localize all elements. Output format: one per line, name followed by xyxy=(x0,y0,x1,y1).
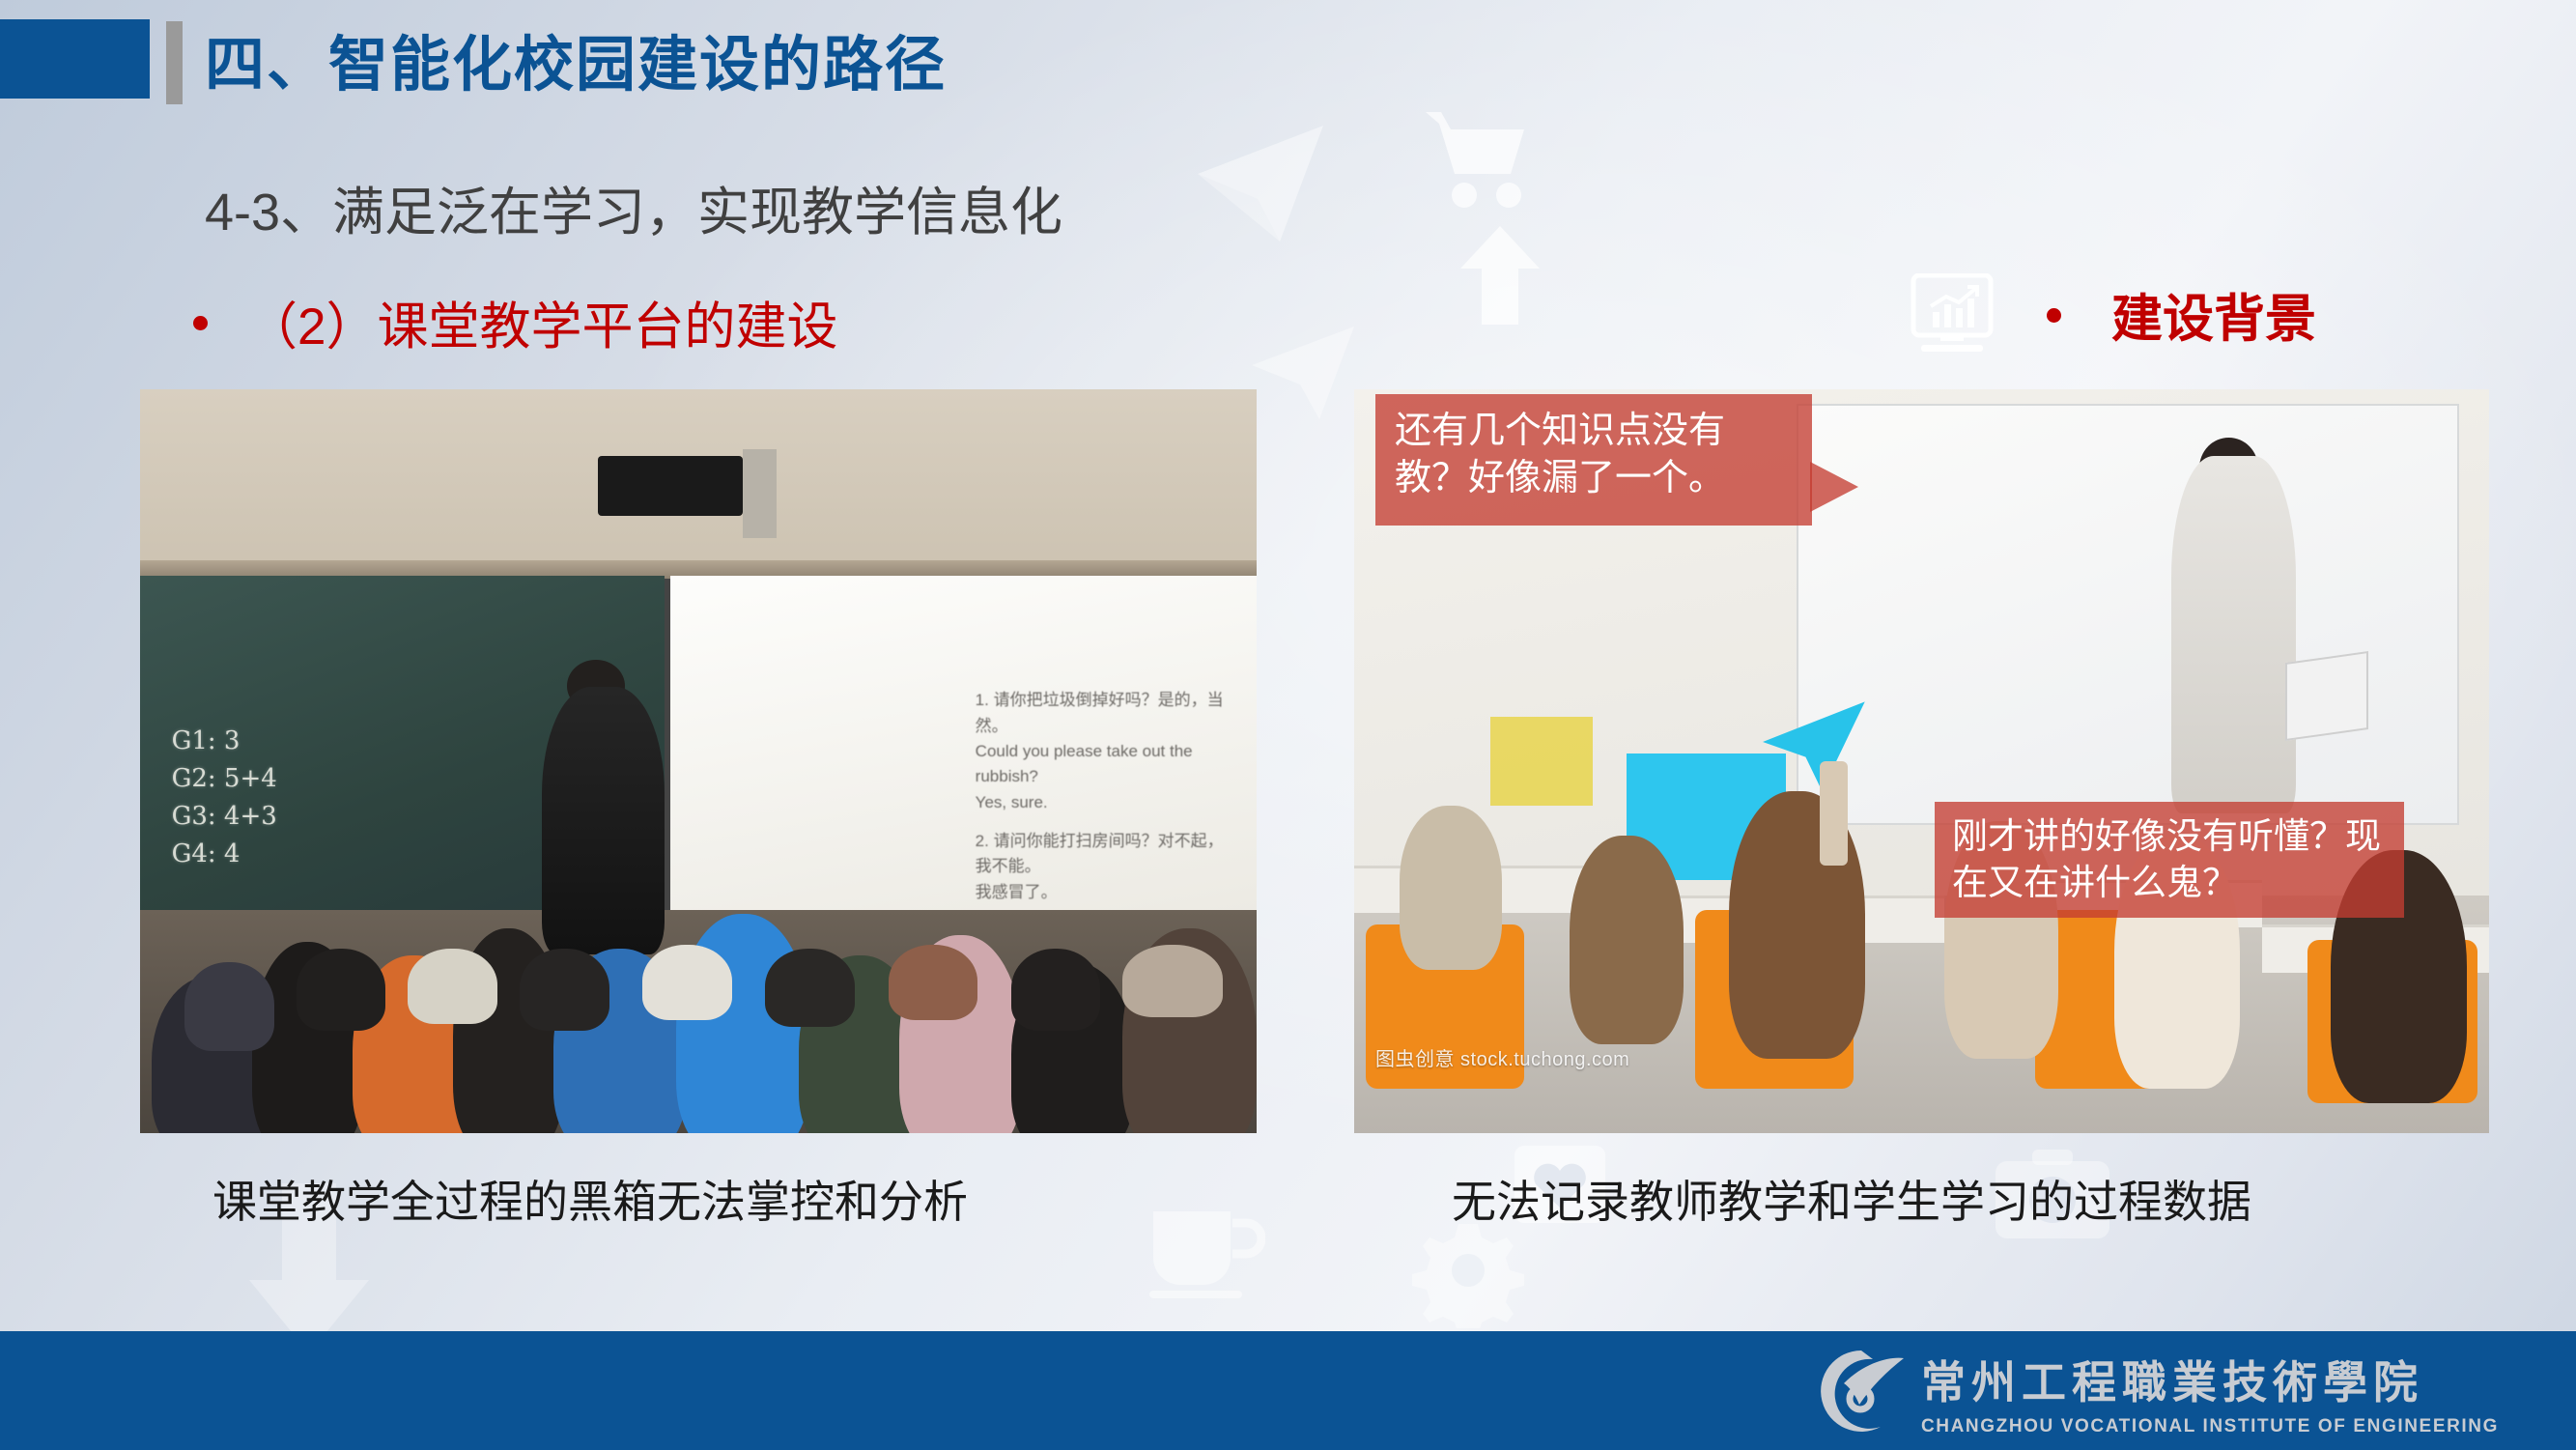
school-logo-mark-icon xyxy=(1815,1345,1908,1437)
bullet-row-left: （2）课堂教学平台的建设 xyxy=(193,286,837,359)
callout-text: 刚才讲的好像没有听懂？现在又在讲什么鬼？ xyxy=(1952,816,2381,902)
slide-root: 四、智能化校园建设的路径 4-3、满足泛在学习，实现教学信息化 （2）课堂教学平… xyxy=(0,0,2576,1450)
student-head xyxy=(184,962,273,1051)
section-subtitle: 4-3、满足泛在学习，实现教学信息化 xyxy=(205,169,1062,245)
page-title: 四、智能化校园建设的路径 xyxy=(205,15,947,102)
student-figure xyxy=(1400,806,1502,969)
student-head xyxy=(1011,949,1100,1031)
student-head xyxy=(408,949,496,1024)
student-figure xyxy=(1570,836,1684,1044)
photo-left-scene: G1: 3 G2: 5+4 G3: 4+3 G4: 4 1. 请你把垃圾倒掉好吗… xyxy=(140,389,1257,1133)
projector-icon xyxy=(598,456,743,516)
student-head xyxy=(297,949,385,1031)
student-rows xyxy=(140,791,1257,1133)
blackboard-line: G1: 3 xyxy=(172,723,277,760)
caption-left: 课堂教学全过程的黑箱无法掌控和分析 xyxy=(212,1167,968,1231)
header-accent-block xyxy=(0,19,150,99)
projection-line: 1. 请你把垃圾倒掉好吗？是的，当然。 xyxy=(976,688,1233,739)
school-logo-texts: 常州工程職業技術學院 CHANGZHOU VOCATIONAL INSTITUT… xyxy=(1921,1357,2499,1437)
teacher-figure xyxy=(2171,456,2296,813)
callout-teacher-thought: 还有几个知识点没有教？好像漏了一个。 xyxy=(1375,394,1812,526)
school-name-en: CHANGZHOU VOCATIONAL INSTITUTE OF ENGINE… xyxy=(1921,1416,2499,1437)
student-head xyxy=(642,945,731,1020)
student-head xyxy=(889,945,977,1020)
header-accent-bar xyxy=(166,21,183,104)
section-tag-right: 建设背景 xyxy=(1908,273,2316,356)
whiteboard xyxy=(1797,404,2459,824)
school-name-cn: 常州工程職業技術學院 xyxy=(1921,1357,2423,1408)
student-head xyxy=(520,949,609,1031)
tag-bullet-dot-icon xyxy=(2047,308,2061,323)
section-tag-label: 建设背景 xyxy=(2111,278,2316,352)
classroom-photo-left: G1: 3 G2: 5+4 G3: 4+3 G4: 4 1. 请你把垃圾倒掉好吗… xyxy=(140,389,1257,1133)
callout-tail-icon xyxy=(1810,462,1858,512)
footer-bar: 常州工程職業技術學院 CHANGZHOU VOCATIONAL INSTITUT… xyxy=(0,1331,2576,1450)
projector-mount xyxy=(743,449,777,538)
tablet-icon xyxy=(2285,651,2368,741)
yellow-poster xyxy=(1490,717,1593,806)
monitor-chart-icon xyxy=(1908,273,1996,356)
callout-text: 还有几个知识点没有教？好像漏了一个。 xyxy=(1395,411,1725,498)
caption-right: 无法记录教师教学和学生学习的过程数据 xyxy=(1452,1167,2251,1231)
callout-student-thought: 刚才讲的好像没有听懂？现在又在讲什么鬼？ xyxy=(1935,802,2404,918)
bullet-label: （2）课堂教学平台的建设 xyxy=(246,286,837,359)
raised-arm xyxy=(1820,761,1848,866)
student-head xyxy=(1122,945,1223,1016)
student-head xyxy=(765,949,854,1027)
photo-watermark: 图虫创意 stock.tuchong.com xyxy=(1375,1043,1629,1071)
school-logo: 常州工程職業技術學院 CHANGZHOU VOCATIONAL INSTITUT… xyxy=(1815,1345,2499,1437)
bullet-dot-icon xyxy=(193,316,208,330)
projection-line: Could you please take out the rubbish? xyxy=(976,739,1233,790)
